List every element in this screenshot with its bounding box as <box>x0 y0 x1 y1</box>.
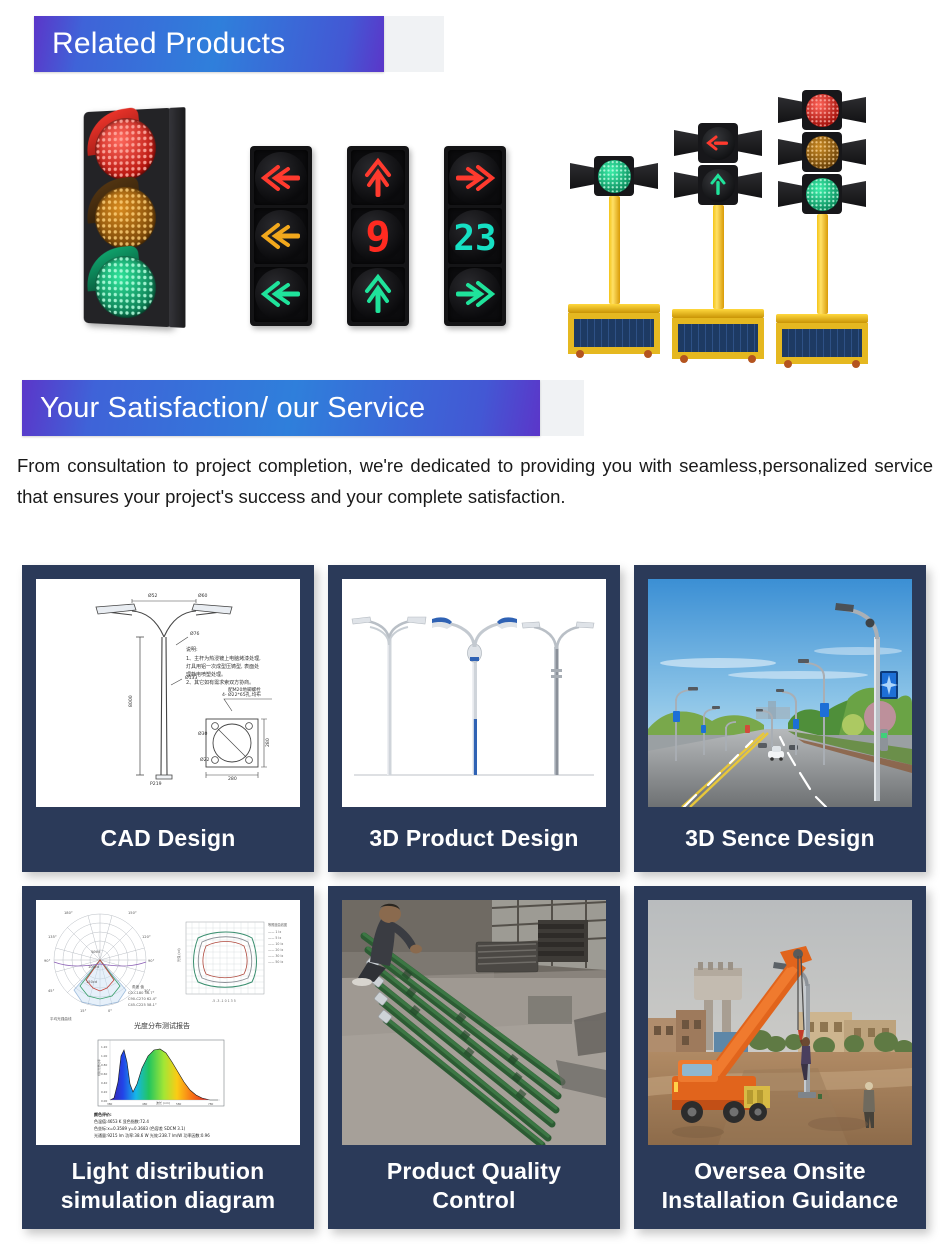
cad-note-line-0: 1、主杆为热浸镀上电脑烤漆处理, <box>186 655 261 662</box>
card-media-crane-installation-photo <box>648 900 912 1145</box>
svg-text:90°: 90° <box>148 959 155 963</box>
aspect-red <box>778 90 866 130</box>
card-media-factory-photo <box>342 900 606 1145</box>
svg-text:C90-C270 62.4°: C90-C270 62.4° <box>128 997 157 1001</box>
service-card-row: 180°150° 135°120° 90°90° 45°30° 15°0° 50… <box>22 886 928 1229</box>
svg-text:光通量:9215 lm 功率:38.6 W 光效:238: 光通量:9215 lm 功率:38.6 W 光效:238.7 lm/W 功率因数… <box>94 1132 210 1138</box>
svg-text:光强 (cd): 光强 (cd) <box>176 948 181 962</box>
svg-text:1.20: 1.20 <box>101 1045 107 1049</box>
service-card-3d-product-design[interactable]: 3D Product Design <box>328 565 620 872</box>
svg-text:等照度曲线图: 等照度曲线图 <box>268 922 287 927</box>
aspect-green-up-arrow <box>674 165 762 205</box>
service-card-label: Oversea Onsite Installation Guidance <box>648 1145 912 1229</box>
product-solar-mobile-single-aspect-traffic-light[interactable] <box>568 156 660 354</box>
service-card-oversea-installation[interactable]: Oversea Onsite Installation Guidance <box>634 886 926 1229</box>
svg-text:100cd: 100cd <box>88 965 99 969</box>
section-banner-related-products: Related Products <box>34 16 444 72</box>
aspect-red-left-arrow <box>254 150 308 205</box>
svg-text:Ø60: Ø60 <box>198 592 208 599</box>
factory-inspection-photo-icon <box>342 900 606 1145</box>
service-card-product-quality-control[interactable]: Product Quality Control <box>328 886 620 1229</box>
service-card-label: 3D Product Design <box>342 807 606 872</box>
aspect-green-right-arrow <box>448 267 502 322</box>
svg-text:180°: 180° <box>64 911 73 915</box>
banner-tail-strip <box>384 16 444 72</box>
banner-title: Related Products <box>52 27 285 61</box>
product-three-aspect-led-traffic-light[interactable] <box>82 110 172 325</box>
svg-text:580: 580 <box>176 1102 182 1106</box>
service-card-grid: Ø52 Ø60 Ø76 8000 Ø133 P219 Ø30 Ø22 280 2… <box>22 565 928 1243</box>
card-media-3d-poles <box>342 579 606 807</box>
product-right-arrow-countdown-traffic-light[interactable]: 23 <box>444 146 506 326</box>
street-scene-render-icon <box>648 579 912 807</box>
service-card-label: Light distribution simulation diagram <box>36 1145 300 1229</box>
svg-text:45°: 45° <box>48 989 55 993</box>
svg-text:C45-C225 58.1°: C45-C225 58.1° <box>128 1003 157 1007</box>
svg-text:Ø22: Ø22 <box>200 756 210 763</box>
svg-text:Ø52: Ø52 <box>148 592 158 599</box>
svg-text:50cd: 50cd <box>91 950 100 954</box>
svg-text:0.20: 0.20 <box>101 1090 107 1094</box>
svg-text:150cd: 150cd <box>86 980 97 984</box>
cad-note-line-1: 灯具用铝一次成型压铸型, 表面处 <box>186 663 259 670</box>
aspect-red-countdown: 9 <box>351 208 405 263</box>
service-card-light-distribution[interactable]: 180°150° 135°120° 90°90° 45°30° 15°0° 50… <box>22 886 314 1229</box>
svg-text:Ø76: Ø76 <box>190 630 200 637</box>
banner-body: Your Satisfaction/ our Service <box>22 380 540 436</box>
aspect-green <box>570 156 658 196</box>
service-card-3d-sence-design[interactable]: 3D Sence Design <box>634 565 926 872</box>
svg-text:135°: 135° <box>48 935 57 939</box>
street-light-poles-render-icon <box>342 579 606 807</box>
product-straight-arrow-countdown-traffic-light[interactable]: 9 <box>347 146 409 326</box>
countdown-digits-23: 23 <box>453 218 496 259</box>
svg-text:色坐标:x=0.3589 y=0.3683 (色容差 SD: 色坐标:x=0.3589 y=0.3683 (色容差 SDCM 3.1) <box>94 1125 186 1131</box>
aspect-red-left-arrow <box>674 123 762 163</box>
svg-text:色温值:4653 K 显色指数:72.4: 色温值:4653 K 显色指数:72.4 <box>94 1118 149 1124</box>
cad-drawing-icon: Ø52 Ø60 Ø76 8000 Ø133 P219 Ø30 Ø22 280 2… <box>36 579 300 807</box>
service-card-cad-design[interactable]: Ø52 Ø60 Ø76 8000 Ø133 P219 Ø30 Ø22 280 2… <box>22 565 314 872</box>
banner-body: Related Products <box>34 16 384 72</box>
svg-text:角度 值: 角度 值 <box>132 984 144 989</box>
product-left-arrow-traffic-light[interactable] <box>250 146 312 326</box>
aspect-green-up-arrow <box>351 267 405 322</box>
svg-text:—— 5 lx: —— 5 lx <box>268 936 281 940</box>
photometric-report-icon: 180°150° 135°120° 90°90° 45°30° 15°0° 50… <box>36 900 300 1145</box>
svg-text:90°: 90° <box>44 959 51 963</box>
aspect-red-up-arrow <box>351 150 405 205</box>
svg-text:—— 20 lx: —— 20 lx <box>268 948 283 952</box>
svg-text:280: 280 <box>265 738 271 747</box>
intro-paragraph: From consultation to project completion,… <box>17 450 933 512</box>
svg-text:波长 (nm): 波长 (nm) <box>156 1100 170 1105</box>
svg-text:0.80: 0.80 <box>101 1063 107 1067</box>
svg-text:—— 1 lx: —— 1 lx <box>268 930 281 934</box>
aspect-green-countdown: 23 <box>448 208 502 263</box>
crane-installation-photo-icon <box>648 900 912 1145</box>
svg-text:0.60: 0.60 <box>101 1072 107 1076</box>
service-card-label: Product Quality Control <box>342 1145 606 1229</box>
cad-note-title: 说明: <box>186 646 198 653</box>
aspect-green-left-arrow <box>254 267 308 322</box>
aspect-amber-left-arrow <box>254 208 308 263</box>
svg-text:380: 380 <box>107 1102 113 1106</box>
card-media-photometric-charts: 180°150° 135°120° 90°90° 45°30° 15°0° 50… <box>36 900 300 1145</box>
product-solar-mobile-three-aspect-traffic-light[interactable] <box>776 90 868 364</box>
aspect-green <box>778 174 866 214</box>
service-card-label: CAD Design <box>36 807 300 872</box>
svg-text:相对光谱功率: 相对光谱功率 <box>97 1059 101 1076</box>
svg-text:C0-C180 56.7°: C0-C180 56.7° <box>128 991 155 995</box>
banner-tail-strip <box>540 380 584 436</box>
cad-note-line-3: 2、其它如有需求索双方协商。 <box>186 679 254 686</box>
svg-text:—— 50 lx: —— 50 lx <box>268 960 283 964</box>
photometric-caption: 光度分布测试报告 <box>134 1021 190 1030</box>
svg-text:0°: 0° <box>108 1009 112 1013</box>
svg-text:P219: P219 <box>150 781 162 787</box>
svg-text:配M20地脚螺栓: 配M20地脚螺栓 <box>228 686 261 693</box>
svg-text:15°: 15° <box>80 1009 87 1013</box>
svg-text:480: 480 <box>142 1102 148 1106</box>
countdown-digit-9: 9 <box>365 213 390 259</box>
svg-text:0.40: 0.40 <box>101 1081 107 1085</box>
svg-text:8000: 8000 <box>128 695 134 707</box>
aspect-red-right-arrow <box>448 150 502 205</box>
svg-text:平均光强曲线: 平均光强曲线 <box>50 1016 72 1021</box>
service-card-row: Ø52 Ø60 Ø76 8000 Ø133 P219 Ø30 Ø22 280 2… <box>22 565 928 872</box>
section-banner-your-satisfaction: Your Satisfaction/ our Service <box>22 380 584 436</box>
svg-text:-5 -3 -1 0 1 3 5: -5 -3 -1 0 1 3 5 <box>212 999 236 1003</box>
service-card-label: 3D Sence Design <box>648 807 912 872</box>
svg-text:120°: 120° <box>142 935 151 939</box>
page-root: Related Products <box>0 0 950 1250</box>
aspect-amber <box>778 132 866 172</box>
banner-title: Your Satisfaction/ our Service <box>40 392 425 425</box>
card-media-3d-street-scene <box>648 579 912 807</box>
product-solar-mobile-two-aspect-arrow-traffic-light[interactable] <box>672 123 764 359</box>
svg-text:150°: 150° <box>128 911 137 915</box>
svg-text:1.00: 1.00 <box>101 1054 107 1058</box>
svg-text:—— 30 lx: —— 30 lx <box>268 954 283 958</box>
svg-text:780: 780 <box>208 1102 214 1106</box>
svg-text:Ø30: Ø30 <box>198 730 208 737</box>
related-products-gallery: 9 23 <box>0 78 950 353</box>
svg-text:—— 10 lx: —— 10 lx <box>268 942 283 946</box>
card-media-cad-drawing: Ø52 Ø60 Ø76 8000 Ø133 P219 Ø30 Ø22 280 2… <box>36 579 300 807</box>
svg-text:280: 280 <box>228 776 237 782</box>
spectrum-title: 颜色评价: <box>94 1111 112 1117</box>
cad-note-line-2: 理静电喷塑处理。 <box>186 671 226 678</box>
